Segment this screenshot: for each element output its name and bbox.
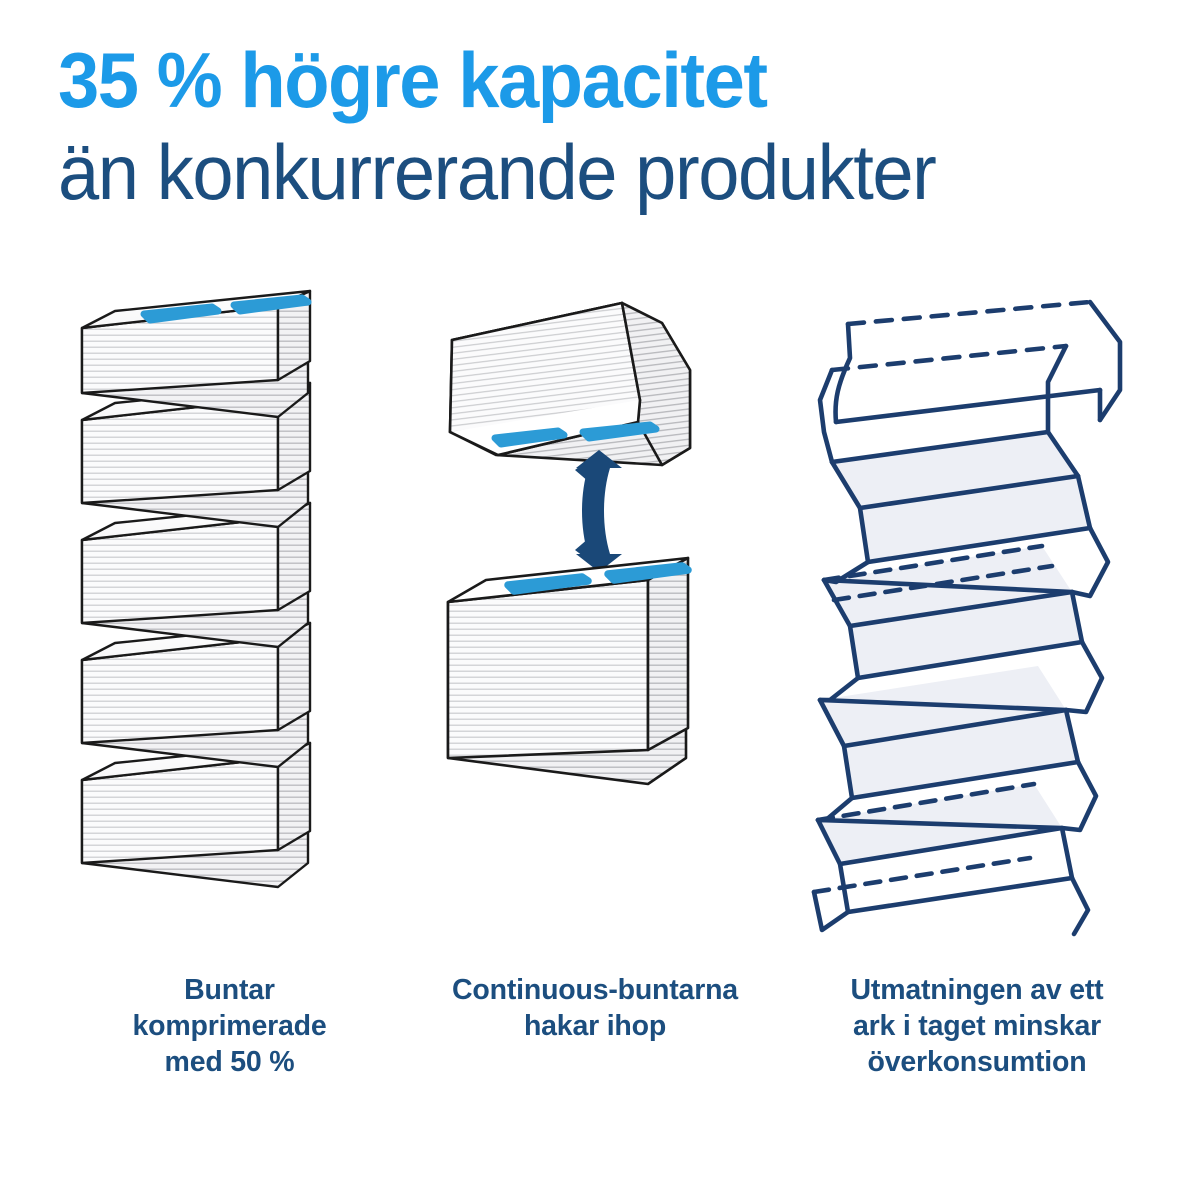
accordion-fold-edge	[836, 324, 850, 422]
interlock-arrow-icon	[575, 450, 622, 572]
page-title: 35 % högre kapacitet än konkurrerande pr…	[58, 34, 1168, 218]
illustration-compressed-bundle-stack	[60, 280, 400, 940]
headline-line-primary: 35 % högre kapacitet	[58, 34, 1113, 126]
caption-line: med 50 %	[42, 1044, 417, 1080]
caption-bundles-interlock: Continuous-buntarna hakar ihop	[400, 972, 790, 1044]
caption-line: Buntar	[42, 972, 417, 1008]
accordion-fold-edge	[814, 892, 848, 930]
accordion-fold-edge	[1072, 528, 1108, 596]
caption-line: Utmatningen av ett	[782, 972, 1172, 1008]
accordion-fold-edge-dashed	[848, 302, 1090, 324]
accordion-fold-edge-dashed	[832, 346, 1066, 370]
accordion-fold-edge	[820, 370, 832, 462]
accordion-fold-group	[814, 302, 1120, 934]
accordion-fold-edge	[836, 390, 1100, 422]
illustration-accordion-fold-stack	[790, 280, 1170, 940]
caption-line: överkonsumtion	[782, 1044, 1172, 1080]
caption-line: Continuous-buntarna	[400, 972, 790, 1008]
bundle-lower	[448, 558, 688, 784]
caption-bundles-compressed: Buntar komprimerade med 50 %	[42, 972, 417, 1080]
accordion-fold-edge	[1062, 762, 1096, 830]
accordion-fold-edge	[1090, 302, 1120, 420]
illustration-interlocking-bundles	[400, 280, 780, 940]
caption-single-sheet-dispensing: Utmatningen av ett ark i taget minskar ö…	[782, 972, 1172, 1080]
bundle-group	[82, 291, 310, 887]
headline-line-secondary: än konkurrerande produkter	[58, 126, 1113, 218]
accordion-fold-edge	[1072, 878, 1088, 934]
bundle-upper	[450, 303, 690, 465]
infographic-page: 35 % högre kapacitet än konkurrerande pr…	[0, 0, 1200, 1200]
caption-line: hakar ihop	[400, 1008, 790, 1044]
caption-line: komprimerade	[42, 1008, 417, 1044]
accordion-fold-edge	[1066, 642, 1102, 712]
caption-row: Buntar komprimerade med 50 % Continuous-…	[0, 972, 1200, 1132]
caption-line: ark i taget minskar	[782, 1008, 1172, 1044]
illustration-row	[0, 280, 1200, 940]
